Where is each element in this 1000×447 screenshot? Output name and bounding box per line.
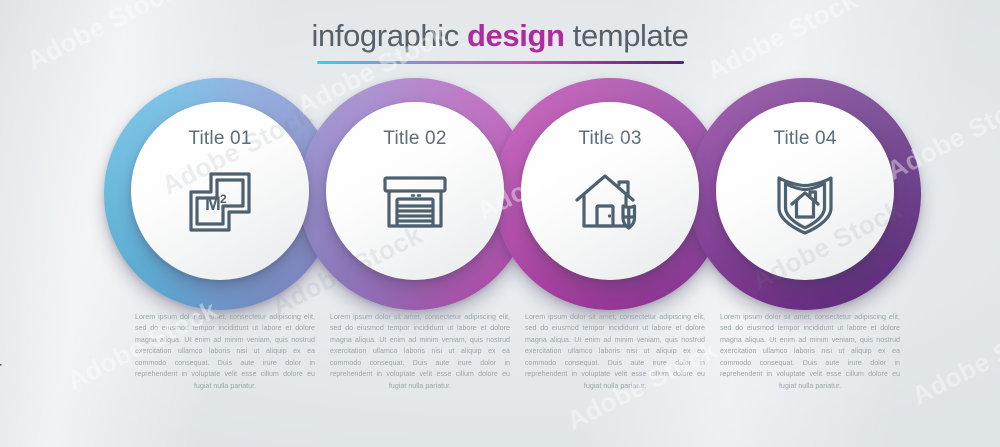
infographic-canvas: infographic design template Title 01 M 2 (0, 0, 1000, 447)
step-1-title: Title 01 (188, 128, 251, 150)
step-1-description: Lorem ipsum dolor sit amet, consectetur … (135, 312, 315, 392)
title-underline-gradient (317, 61, 684, 64)
step-3-disc[interactable]: Title 03 (521, 102, 699, 280)
watermark-text: Adobe Stock (907, 309, 1000, 411)
stock-id-label: Adobe Stock | #463104645 (0, 297, 2, 439)
step-3-title: Title 03 (578, 128, 641, 150)
step-2-title: Title 02 (383, 128, 446, 150)
title-part-infographic: infographic (312, 18, 467, 53)
step-4[interactable]: Title 04 (689, 78, 921, 310)
title-part-template: template (565, 18, 689, 53)
floor-area-square-meters-icon: M 2 (181, 162, 259, 240)
step-3-description: Lorem ipsum dolor sit amet, consectetur … (525, 312, 705, 392)
step-1-disc[interactable]: Title 01 M 2 (131, 102, 309, 280)
garage-door-icon (376, 162, 454, 240)
step-4-disc[interactable]: Title 04 (716, 102, 894, 280)
title-part-design: design (467, 18, 565, 53)
step-2-description: Lorem ipsum dolor sit amet, consectetur … (330, 312, 510, 392)
step-4-title: Title 04 (773, 128, 836, 150)
step-4-description: Lorem ipsum dolor sit amet, consectetur … (720, 312, 900, 392)
step-2-disc[interactable]: Title 02 (326, 102, 504, 280)
house-with-shield-icon (571, 162, 649, 240)
step-ring-row: Title 01 M 2 Title 02 (0, 78, 1000, 310)
svg-text:M: M (205, 194, 221, 215)
svg-text:2: 2 (220, 192, 227, 206)
shield-house-protection-icon (766, 162, 844, 240)
page-title: infographic design template (0, 18, 1000, 64)
